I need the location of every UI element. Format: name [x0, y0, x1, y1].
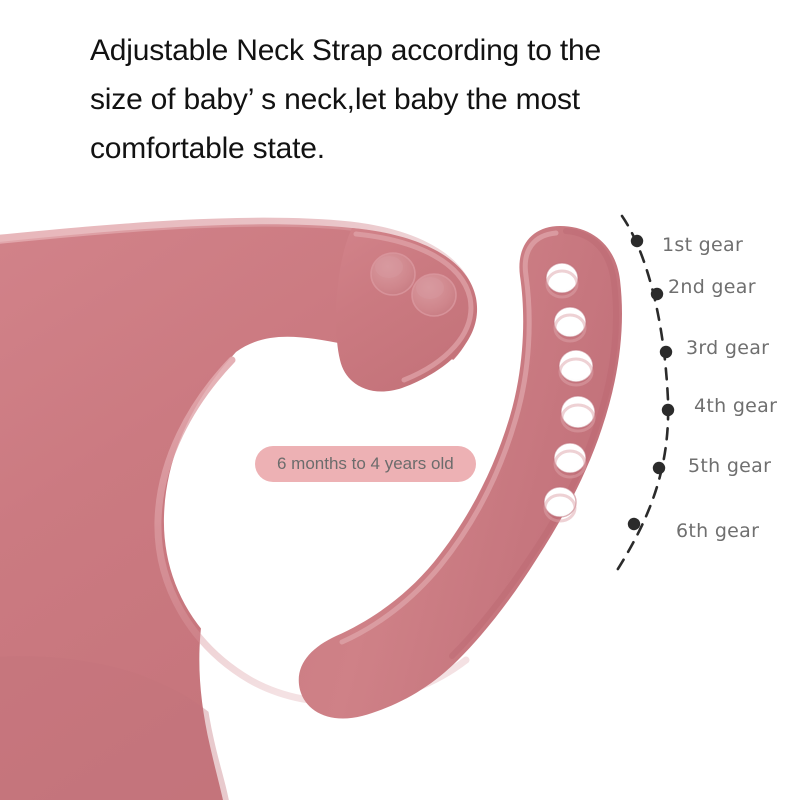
gear-label-3: 3rd gear	[686, 337, 769, 359]
gear-label-6: 6th gear	[676, 520, 759, 542]
strap-hole-5[interactable]	[554, 443, 586, 477]
annotation-dot-2	[651, 288, 663, 300]
annotation-dot-3	[660, 346, 672, 358]
product-illustration	[0, 0, 800, 800]
annotation-dot-1	[631, 235, 643, 247]
gear-label-2: 2nd gear	[668, 276, 756, 298]
age-range-label: 6 months to 4 years old	[277, 454, 454, 474]
strap-hole-3[interactable]	[559, 350, 593, 385]
snap-button-1[interactable]	[371, 253, 415, 295]
gear-label-1: 1st gear	[662, 234, 743, 256]
annotation-dashed-curve	[616, 216, 668, 572]
bib-body-shading	[0, 656, 258, 800]
snap-button-2[interactable]	[412, 274, 456, 316]
annotation-dot-6	[628, 518, 640, 530]
annotation-group	[616, 216, 674, 572]
annotation-dot-5	[653, 462, 665, 474]
strap-hole-1[interactable]	[546, 263, 578, 297]
gear-label-4: 4th gear	[694, 395, 777, 417]
strap-hole-2[interactable]	[554, 307, 586, 341]
age-range-badge: 6 months to 4 years old	[255, 446, 476, 482]
strap-hole-6[interactable]	[544, 487, 576, 521]
annotation-dot-4	[662, 404, 674, 416]
strap-hole-4[interactable]	[561, 396, 595, 431]
product-infographic: Adjustable Neck Strap according to the s…	[0, 0, 800, 800]
gear-label-5: 5th gear	[688, 455, 771, 477]
